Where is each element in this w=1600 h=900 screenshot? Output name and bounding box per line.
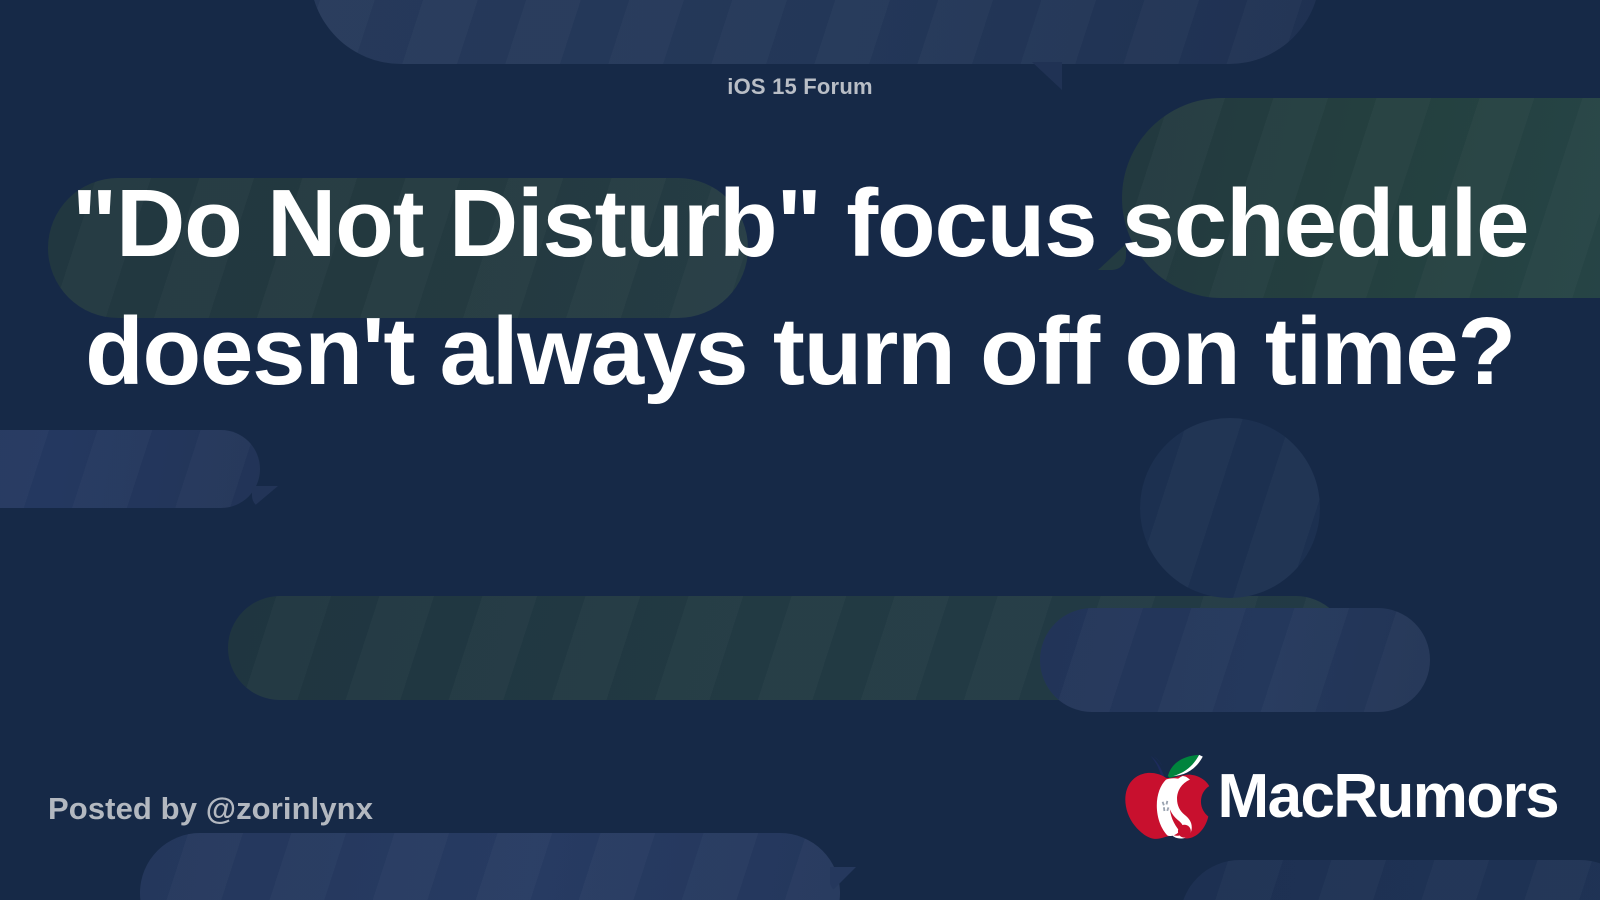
forum-label: iOS 15 Forum [0, 74, 1600, 100]
macrumors-apple-question-mark-icon [1120, 750, 1212, 848]
share-card: iOS 15 Forum "Do Not Disturb" focus sche… [0, 0, 1600, 900]
macrumors-logo: MacRumors [1120, 750, 1558, 848]
macrumors-wordmark: MacRumors [1218, 766, 1558, 832]
card-content: iOS 15 Forum "Do Not Disturb" focus sche… [0, 0, 1600, 900]
page-title: "Do Not Disturb" focus schedule doesn't … [60, 160, 1540, 415]
post-author-byline: Posted by @zorinlynx [48, 791, 373, 827]
